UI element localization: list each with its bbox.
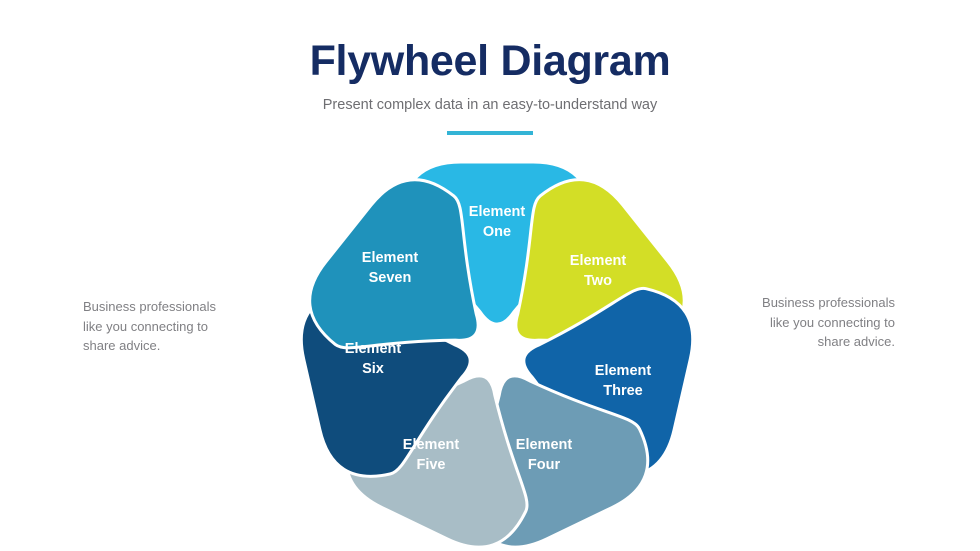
page-subtitle: Present complex data in an easy-to-under… [0,86,980,114]
accent-divider [447,131,533,135]
flywheel-diagram: ElementOneElementTwoElementThreeElementF… [298,152,698,512]
caption-right: Business professionals like you connecti… [745,293,895,352]
page-header: Flywheel Diagram Present complex data in… [0,0,980,135]
flywheel-svg [298,152,698,512]
caption-left: Business professionals like you connecti… [83,297,233,356]
page-title: Flywheel Diagram [0,0,980,86]
